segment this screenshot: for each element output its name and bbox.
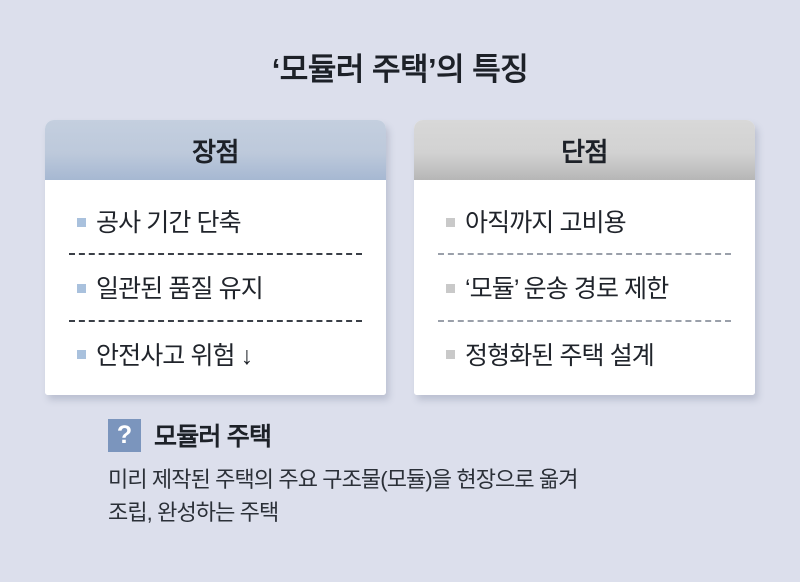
list-item: 아직까지 고비용 bbox=[436, 190, 733, 252]
infographic-root: ‘모듈러 주택’의 특징 장점 공사 기간 단축 일관된 품질 유지 안전사고 … bbox=[0, 0, 800, 582]
panel-advantages: 장점 공사 기간 단축 일관된 품질 유지 안전사고 위험 ↓ bbox=[45, 120, 386, 395]
list-item: 일관된 품질 유지 bbox=[67, 256, 364, 318]
list-item-label: ‘모듈’ 운송 경로 제한 bbox=[465, 269, 668, 305]
bullet-square-icon bbox=[77, 218, 86, 227]
list-item-label: 일관된 품질 유지 bbox=[96, 269, 263, 305]
list-item: 정형화된 주택 설계 bbox=[436, 323, 733, 385]
list-item-label: 정형화된 주택 설계 bbox=[465, 336, 654, 372]
bullet-square-icon bbox=[446, 350, 455, 359]
list-item: 공사 기간 단축 bbox=[67, 190, 364, 252]
bullet-square-icon bbox=[446, 284, 455, 293]
panel-advantages-body: 공사 기간 단축 일관된 품질 유지 안전사고 위험 ↓ bbox=[45, 180, 386, 395]
comparison-panels: 장점 공사 기간 단축 일관된 품질 유지 안전사고 위험 ↓ bbox=[45, 120, 755, 395]
list-divider bbox=[69, 253, 362, 255]
question-mark-icon: ? bbox=[108, 419, 141, 452]
panel-advantages-header: 장점 bbox=[45, 120, 386, 180]
list-item-label: 공사 기간 단축 bbox=[96, 203, 241, 239]
bullet-square-icon bbox=[77, 350, 86, 359]
definition-note-description-line-2: 조립, 완성하는 주택 bbox=[108, 496, 708, 529]
panel-disadvantages: 단점 아직까지 고비용 ‘모듈’ 운송 경로 제한 정형화된 주택 설계 bbox=[414, 120, 755, 395]
definition-note-title: 모듈러 주택 bbox=[154, 417, 271, 453]
list-item: 안전사고 위험 ↓ bbox=[67, 323, 364, 385]
list-divider bbox=[438, 253, 731, 255]
bullet-square-icon bbox=[446, 218, 455, 227]
page-title: ‘모듈러 주택’의 특징 bbox=[0, 44, 800, 89]
bullet-square-icon bbox=[77, 284, 86, 293]
definition-note-description-line-1: 미리 제작된 주택의 주요 구조물(모듈)을 현장으로 옮겨 bbox=[108, 463, 708, 496]
list-divider bbox=[69, 320, 362, 322]
list-item-label: 안전사고 위험 ↓ bbox=[96, 336, 252, 372]
definition-note-header: ? 모듈러 주택 bbox=[108, 418, 768, 452]
list-item-label: 아직까지 고비용 bbox=[465, 203, 626, 239]
panel-disadvantages-header: 단점 bbox=[414, 120, 755, 180]
list-item: ‘모듈’ 운송 경로 제한 bbox=[436, 256, 733, 318]
definition-note-description: 미리 제작된 주택의 주요 구조물(모듈)을 현장으로 옮겨 조립, 완성하는 … bbox=[108, 463, 708, 529]
panel-disadvantages-body: 아직까지 고비용 ‘모듈’ 운송 경로 제한 정형화된 주택 설계 bbox=[414, 180, 755, 395]
list-divider bbox=[438, 320, 731, 322]
definition-note: ? 모듈러 주택 미리 제작된 주택의 주요 구조물(모듈)을 현장으로 옮겨 … bbox=[108, 418, 768, 529]
